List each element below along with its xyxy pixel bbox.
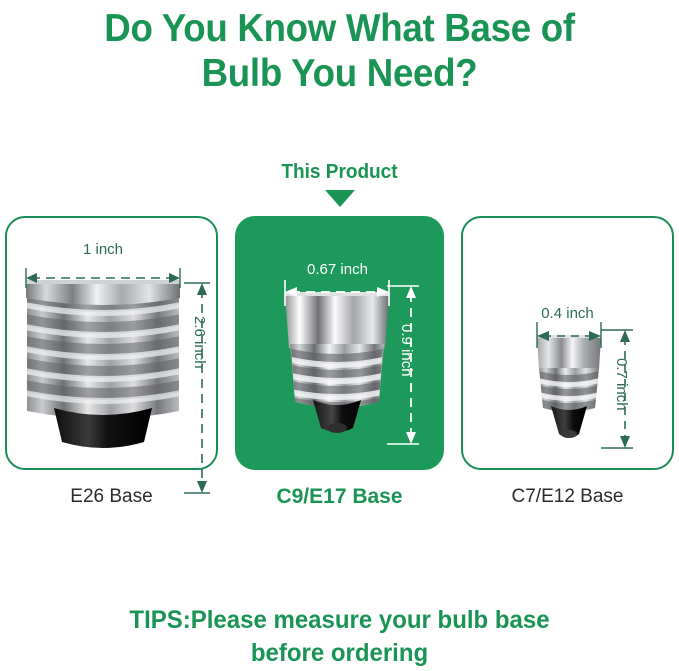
caption-c9e17: C9/E17 Base xyxy=(235,484,444,510)
caption-e26: E26 Base xyxy=(5,484,218,510)
this-product-marker: This Product xyxy=(235,160,444,207)
page-title-line-2: Bulb You Need? xyxy=(20,51,658,96)
base-comparison-cards: 1 inch 2.6 inch xyxy=(0,216,679,472)
dimension-width-label-e26: 1 inch xyxy=(7,242,199,258)
card-captions: E26 Base C9/E17 Base C7/E12 Base xyxy=(0,484,679,514)
tips-text: TIPS:Please measure your bulb base befor… xyxy=(14,604,666,670)
dimension-width-label-c7e12: 0.4 inch xyxy=(463,306,672,322)
tips-line-1: TIPS:Please measure your bulb base xyxy=(14,604,666,637)
triangle-down-icon xyxy=(325,190,355,207)
page-title-line-1: Do You Know What Base of xyxy=(20,6,658,51)
infographic-page: Do You Know What Base of Bulb You Need? … xyxy=(0,0,679,671)
caption-c7e12: C7/E12 Base xyxy=(461,484,674,510)
tips-line-2: before ordering xyxy=(14,637,666,670)
dimension-width-label-c9e17: 0.67 inch xyxy=(235,262,440,278)
this-product-label: This Product xyxy=(240,160,439,184)
dimension-height-label-c7e12: 0.7 inch xyxy=(613,358,629,411)
base-card-c7e12[interactable]: 0.4 inch 0.7 inch xyxy=(461,216,674,470)
dimension-height-line-e26 xyxy=(180,273,220,503)
base-card-c9e17[interactable]: 0.67 inch 0.9 inch xyxy=(235,216,444,470)
base-card-e26[interactable]: 1 inch 2.6 inch xyxy=(5,216,218,470)
page-title: Do You Know What Base of Bulb You Need? xyxy=(20,6,658,96)
dimension-height-label-c9e17: 0.9 inch xyxy=(398,324,414,377)
dimension-height-label-e26: 2.6 inch xyxy=(191,316,207,369)
